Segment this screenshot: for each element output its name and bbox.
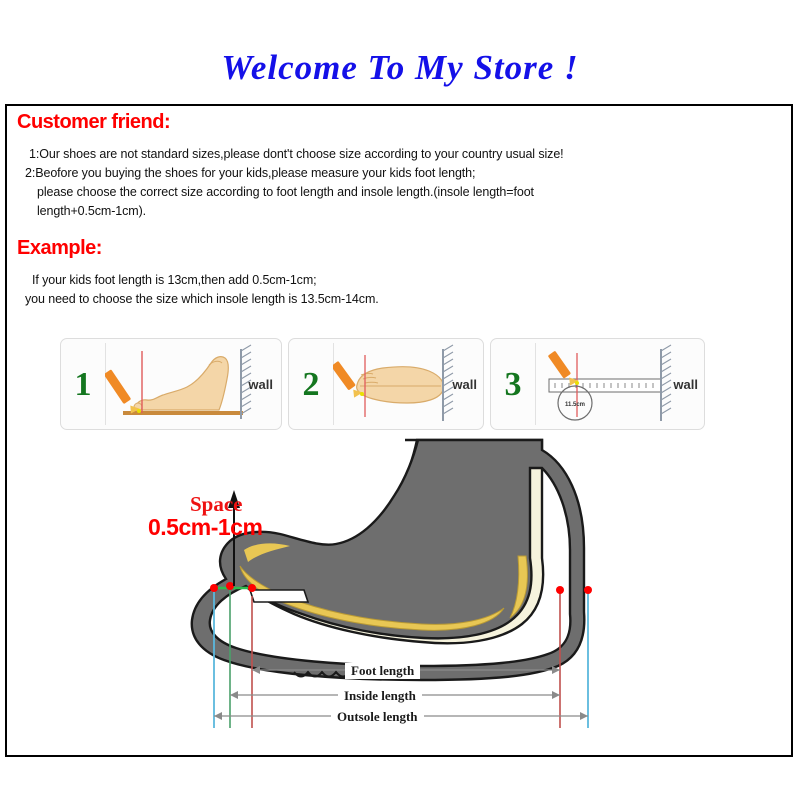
- customer-note-line-4: length+0.5cm-1cm).: [37, 204, 146, 218]
- example-heading: Example:: [17, 237, 102, 260]
- step-card-2: 2: [288, 338, 484, 430]
- step-number-3: 3: [491, 339, 535, 431]
- space-label-value: 0.5cm-1cm: [148, 514, 262, 541]
- wall-label-2: wall: [452, 377, 477, 392]
- example-line-1: If your kids foot length is 13cm,then ad…: [32, 273, 317, 287]
- wall-label-3: wall: [673, 377, 698, 392]
- page-title: Welcome To My Store !: [0, 48, 800, 88]
- foot-length-label: Foot length: [345, 663, 420, 679]
- step-card-3: 3: [490, 338, 705, 430]
- outsole-length-label: Outsole length: [331, 709, 424, 725]
- step-number-1: 1: [61, 339, 105, 431]
- info-panel: Customer friend: 1:Our shoes are not sta…: [5, 104, 793, 757]
- inside-length-label: Inside length: [338, 688, 422, 704]
- step-card-1: 1: [60, 338, 282, 430]
- customer-note-line-1: 1:Our shoes are not standard sizes,pleas…: [29, 147, 564, 161]
- customer-note-line-2: 2:Beofore you buying the shoes for your …: [25, 166, 475, 180]
- example-line-2: you need to choose the size which insole…: [25, 292, 379, 306]
- measurement-steps: 1: [60, 338, 705, 436]
- wall-label-1: wall: [248, 377, 273, 392]
- ruler-reading-text: 11.5cm: [565, 402, 585, 408]
- customer-note-line-3: please choose the correct size according…: [37, 185, 534, 199]
- customer-friend-heading: Customer friend:: [17, 111, 170, 134]
- step-number-2: 2: [289, 339, 333, 431]
